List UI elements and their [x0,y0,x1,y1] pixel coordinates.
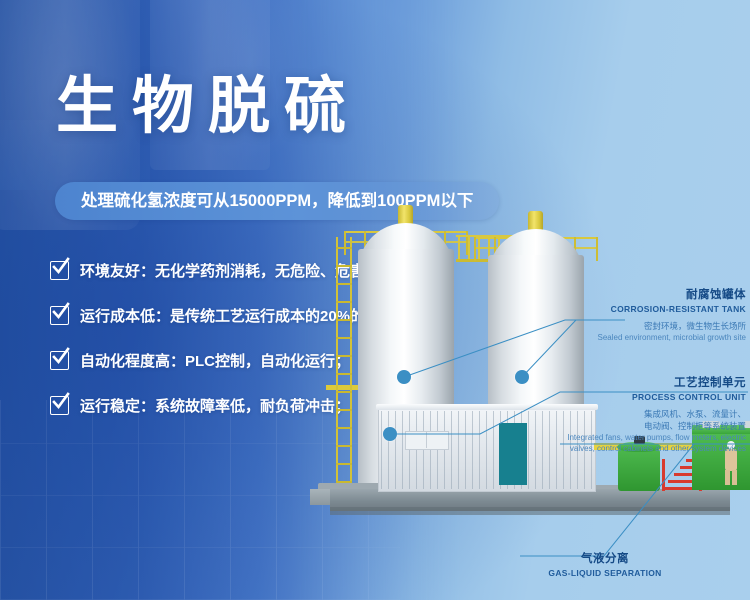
callout-desc-en: Sealed environment, microbial growth sit… [560,332,746,343]
callout-process-control-unit: 工艺控制单元 PROCESS CONTROL UNIT 集成风机、水泵、流量计、… [556,376,746,454]
callout-title-cn: 耐腐蚀罐体 [560,288,746,303]
callout-title-en: PROCESS CONTROL UNIT [556,391,746,403]
callout-title-en: CORROSION-RESISTANT TANK [560,303,746,315]
callout-title-cn: 工艺控制单元 [556,376,746,391]
callout-corrosion-resistant-tank: 耐腐蚀罐体 CORROSION-RESISTANT TANK 密封环境，微生物生… [560,288,746,343]
callout-desc-cn: 密封环境，微生物生长场所 [560,320,746,332]
callout-title-en: GAS-LIQUID SEPARATION [520,567,690,579]
callout-desc-cn: 集成风机、水泵、流量计、 电动阀、控制柜等系统装置 [556,408,746,432]
callout-gas-liquid-separation: 气液分离 GAS-LIQUID SEPARATION [520,552,690,579]
callout-desc-en: Integrated fans, water pumps, flow meter… [556,432,746,454]
promo-banner: 生物脱硫 处理硫化氢浓度可从15000PPM，降低到100PPM以下 环境友好：… [0,0,750,600]
callout-title-cn: 气液分离 [520,552,690,567]
